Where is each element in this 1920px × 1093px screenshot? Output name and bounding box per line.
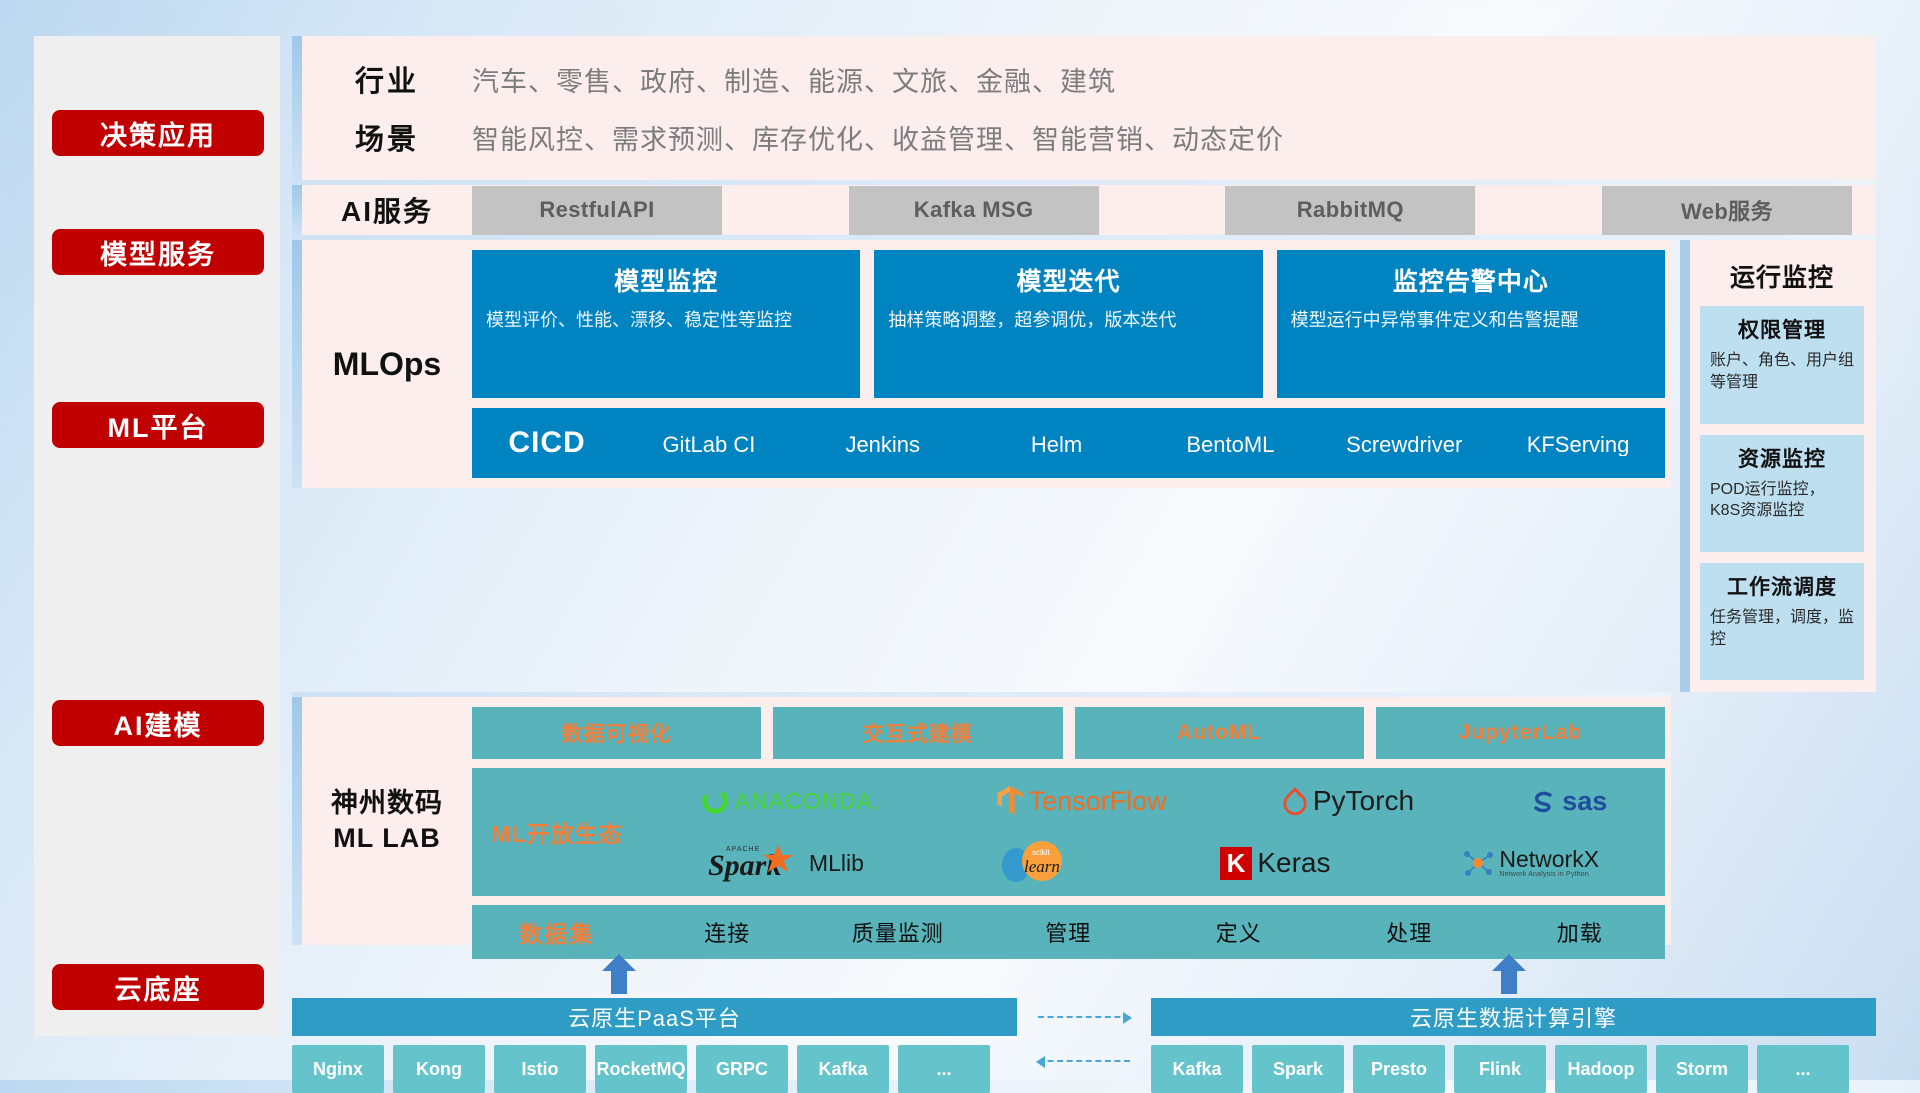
card-desc: 模型评价、性能、漂移、稳定性等监控 [486,308,846,333]
keras-label: Keras [1257,847,1330,879]
cicd-item-kfserving[interactable]: KFServing [1491,434,1665,456]
sas-logo: sas [1529,786,1607,817]
mlops-card-row: 模型监控 模型评价、性能、漂移、稳定性等监控 模型迭代 抽样策略调整，超参调优，… [472,250,1665,398]
rail-chip-label: ML平台 [108,406,209,445]
pytorch-label: PyTorch [1313,785,1414,817]
card-desc: 任务管理，调度，监控 [1710,607,1854,650]
rail-chip-ml-platform[interactable]: ML平台 [52,402,264,448]
card-desc: 抽样策略调整，超参调优，版本迭代 [888,308,1248,333]
card-title: 工作流调度 [1710,571,1854,601]
industry-row: 行业 汽车、零售、政府、制造、能源、文旅、金融、建筑 [302,58,1858,100]
keras-icon: K [1220,847,1253,880]
main-column: 行业 汽车、零售、政府、制造、能源、文旅、金融、建筑 场景 智能风控、需求预测、… [292,36,1876,1041]
tensorflow-logo: TensorFlow [996,785,1167,817]
industry-value: 汽车、零售、政府、制造、能源、文旅、金融、建筑 [472,60,1116,99]
monitor-card-permission[interactable]: 权限管理 账户、角色、用户组等管理 [1700,306,1864,423]
spark-icon: Spark APACHE [708,841,804,885]
dash-line-right [1038,1016,1130,1018]
pill-istio[interactable]: Istio [494,1045,586,1093]
pill-hadoop[interactable]: Hadoop [1555,1045,1647,1093]
rail-chip-label: 决策应用 [100,114,216,153]
rail-chip-label: 云底座 [115,968,202,1007]
logo-row-1: ANACONDA. TensorFlow [642,772,1665,830]
card-title: 权限管理 [1710,314,1854,344]
rail-chip-ai-modeling[interactable]: AI建模 [52,700,264,746]
pill-nginx[interactable]: Nginx [292,1045,384,1093]
card-desc: 模型运行中异常事件定义和告警提醒 [1291,308,1651,333]
pill-kong[interactable]: Kong [393,1045,485,1093]
scenario-row: 场景 智能风控、需求预测、库存优化、收益管理、智能营销、动态定价 [302,116,1858,158]
pill-storm[interactable]: Storm [1656,1045,1748,1093]
pill-spark[interactable]: Spark [1252,1045,1344,1093]
decision-application-band: 行业 汽车、零售、政府、制造、能源、文旅、金融、建筑 场景 智能风控、需求预测、… [292,36,1876,180]
dataset-item-load[interactable]: 加载 [1495,916,1666,948]
diagram-root: 决策应用 模型服务 ML平台 AI建模 云底座 行业 汽车、零售、政府、制造、能… [0,0,1920,1080]
mlops-card-alert-center[interactable]: 监控告警中心 模型运行中异常事件定义和告警提醒 [1277,250,1665,398]
pill-kafka[interactable]: Kafka [797,1045,889,1093]
dash-line-left [1038,1060,1130,1062]
ai-service-list: RestfulAPI Kafka MSG RabbitMQ Web服务 [472,186,1858,235]
service-restfulapi[interactable]: RestfulAPI [472,186,722,235]
networkx-sublabel: Network Analysis in Python [1499,871,1599,878]
rail-chip-cloud-base[interactable]: 云底座 [52,964,264,1010]
mlops-band: MLOps 模型监控 模型评价、性能、漂移、稳定性等监控 模型迭代 抽样策略调整… [292,240,1671,488]
mlops-label: MLOps [302,250,472,478]
cicd-item-gitlab-ci[interactable]: GitLab CI [622,434,796,456]
svg-text:learn: learn [1024,857,1060,876]
cicd-heading: CICD [472,426,622,460]
rail-chip-model-service[interactable]: 模型服务 [52,229,264,275]
networkx-label: NetworkX [1499,848,1599,871]
dataset-item-process[interactable]: 处理 [1324,916,1495,948]
data-engine-bar[interactable]: 云原生数据计算引擎 [1151,998,1876,1036]
mlops-card-model-monitoring[interactable]: 模型监控 模型评价、性能、漂移、稳定性等监控 [472,250,860,398]
ai-modeling-band: 神州数码 ML LAB 数据可视化 交互式建模 AutoML JupyterLa… [292,697,1671,945]
rail-chip-decision-app[interactable]: 决策应用 [52,110,264,156]
rail-chip-label: AI建模 [114,704,203,743]
logo-row-2: Spark APACHE MLlib scikit [642,834,1665,892]
sas-label: sas [1562,786,1607,817]
sas-icon [1529,787,1557,815]
data-engine-pill-row: Kafka Spark Presto Flink Hadoop Storm ..… [1151,1045,1876,1093]
cicd-item-helm[interactable]: Helm [970,434,1144,456]
cloud-base-section: 云原生PaaS平台 Nginx Kong Istio RocketMQ GRPC… [292,956,1876,1041]
tool-jupyterlab[interactable]: JupyterLab [1376,707,1665,759]
svg-text:APACHE: APACHE [726,846,760,853]
up-arrow-paas-icon [602,954,636,994]
industry-key: 行业 [302,58,472,100]
scenario-value: 智能风控、需求预测、库存优化、收益管理、智能营销、动态定价 [472,118,1284,157]
monitor-card-resource[interactable]: 资源监控 POD运行监控，K8S资源监控 [1700,435,1864,552]
dataset-item-manage[interactable]: 管理 [983,916,1154,948]
ai-service-label: AI服务 [302,190,472,230]
service-kafka-msg[interactable]: Kafka MSG [849,186,1099,235]
monitor-panel-title: 运行监控 [1700,258,1864,294]
scikit-learn-icon: scikit learn [996,841,1088,885]
tool-automl[interactable]: AutoML [1075,707,1364,759]
cicd-row: CICD GitLab CI Jenkins Helm BentoML Scre… [472,408,1665,478]
dataset-item-define[interactable]: 定义 [1154,916,1325,948]
pill-flink[interactable]: Flink [1454,1045,1546,1093]
cicd-items: GitLab CI Jenkins Helm BentoML Screwdriv… [622,430,1665,456]
cicd-item-jenkins[interactable]: Jenkins [796,434,970,456]
dataset-items: 连接 质量监测 管理 定义 处理 加载 [642,916,1665,948]
ml-lab-label: 神州数码 ML LAB [302,707,472,935]
mlops-card-model-iteration[interactable]: 模型迭代 抽样策略调整，超参调优，版本迭代 [874,250,1262,398]
dataset-item-connect[interactable]: 连接 [642,916,813,948]
ml-lab-label-line2: ML LAB [333,821,441,856]
ml-open-ecosystem: ML开放生态 ANACONDA. [472,768,1665,896]
card-title: 模型迭代 [888,262,1248,298]
pill-presto[interactable]: Presto [1353,1045,1445,1093]
ml-lab-label-line1: 神州数码 [331,786,443,821]
tool-data-visualization[interactable]: 数据可视化 [472,707,761,759]
spark-mllib-logo: Spark APACHE MLlib [708,841,864,885]
anaconda-logo: ANACONDA. [700,786,881,816]
card-desc: 账户、角色、用户组等管理 [1710,350,1854,393]
ml-lab-content: 数据可视化 交互式建模 AutoML JupyterLab ML开放生态 [472,707,1671,935]
card-title: 模型监控 [486,262,846,298]
service-web[interactable]: Web服务 [1602,186,1852,235]
rail-chip-label: 模型服务 [100,233,216,272]
cloud-base-row: 云原生PaaS平台 Nginx Kong Istio RocketMQ GRPC… [292,998,1876,1093]
dataset-heading: 数据集 [472,915,642,949]
up-arrow-data-engine-icon [1492,954,1526,994]
scikit-learn-logo: scikit learn [996,841,1088,885]
service-rabbitmq[interactable]: RabbitMQ [1225,186,1475,235]
anaconda-icon [700,786,730,816]
ml-lab-tool-row: 数据可视化 交互式建模 AutoML JupyterLab [472,707,1665,759]
mllib-label: MLlib [809,850,864,877]
anaconda-label: ANACONDA. [735,788,881,815]
svg-text:Spark: Spark [708,849,781,882]
tensorflow-label: TensorFlow [1029,786,1167,817]
pytorch-logo: PyTorch [1282,785,1414,817]
left-rail: 决策应用 模型服务 ML平台 AI建模 云底座 [34,36,280,1036]
keras-logo: K Keras [1220,847,1331,880]
pill-more-right[interactable]: ... [1757,1045,1849,1093]
ml-platform-section: MLOps 模型监控 模型评价、性能、漂移、稳定性等监控 模型迭代 抽样策略调整… [292,240,1876,692]
svg-text:scikit: scikit [1032,848,1051,857]
card-title: 资源监控 [1710,443,1854,473]
dataset-item-quality-monitoring[interactable]: 质量监测 [813,916,984,948]
dataset-row: 数据集 连接 质量监测 管理 定义 处理 加载 [472,905,1665,959]
ecosystem-heading: ML开放生态 [472,815,642,849]
networkx-logo: NetworkX Network Analysis in Python [1462,847,1599,879]
pill-more-left[interactable]: ... [898,1045,990,1093]
paas-pill-row: Nginx Kong Istio RocketMQ GRPC Kafka ... [292,1045,1017,1093]
runtime-monitor-panel: 运行监控 权限管理 账户、角色、用户组等管理 资源监控 POD运行监控，K8S资… [1680,240,1876,692]
arrow-head-left-icon [1036,1056,1045,1068]
networkx-icon [1462,847,1494,879]
card-title: 监控告警中心 [1291,262,1651,298]
tool-interactive-modeling[interactable]: 交互式建模 [773,707,1062,759]
pytorch-icon [1282,786,1308,816]
ai-service-band: AI服务 RestfulAPI Kafka MSG RabbitMQ Web服务 [292,185,1876,235]
arrow-head-right-icon [1123,1012,1132,1024]
pill-kafka-right[interactable]: Kafka [1151,1045,1243,1093]
data-engine-group: 云原生数据计算引擎 Kafka Spark Presto Flink Hadoo… [1151,998,1876,1093]
cicd-item-bentoml[interactable]: BentoML [1143,434,1317,456]
pill-rocketmq[interactable]: RocketMQ [595,1045,687,1093]
cicd-item-screwdriver[interactable]: Screwdriver [1317,434,1491,456]
card-desc: POD运行监控，K8S资源监控 [1710,479,1854,522]
paas-group: 云原生PaaS平台 Nginx Kong Istio RocketMQ GRPC… [292,998,1017,1093]
paas-bar[interactable]: 云原生PaaS平台 [292,998,1017,1036]
pill-grpc[interactable]: GRPC [696,1045,788,1093]
tensorflow-icon [996,785,1024,817]
arrow-layer [292,954,1876,994]
mlops-content: 模型监控 模型评价、性能、漂移、稳定性等监控 模型迭代 抽样策略调整，超参调优，… [472,250,1671,478]
scenario-key: 场景 [302,116,472,158]
monitor-card-workflow[interactable]: 工作流调度 任务管理，调度，监控 [1700,563,1864,680]
ecosystem-logo-grid: ANACONDA. TensorFlow [642,772,1665,892]
